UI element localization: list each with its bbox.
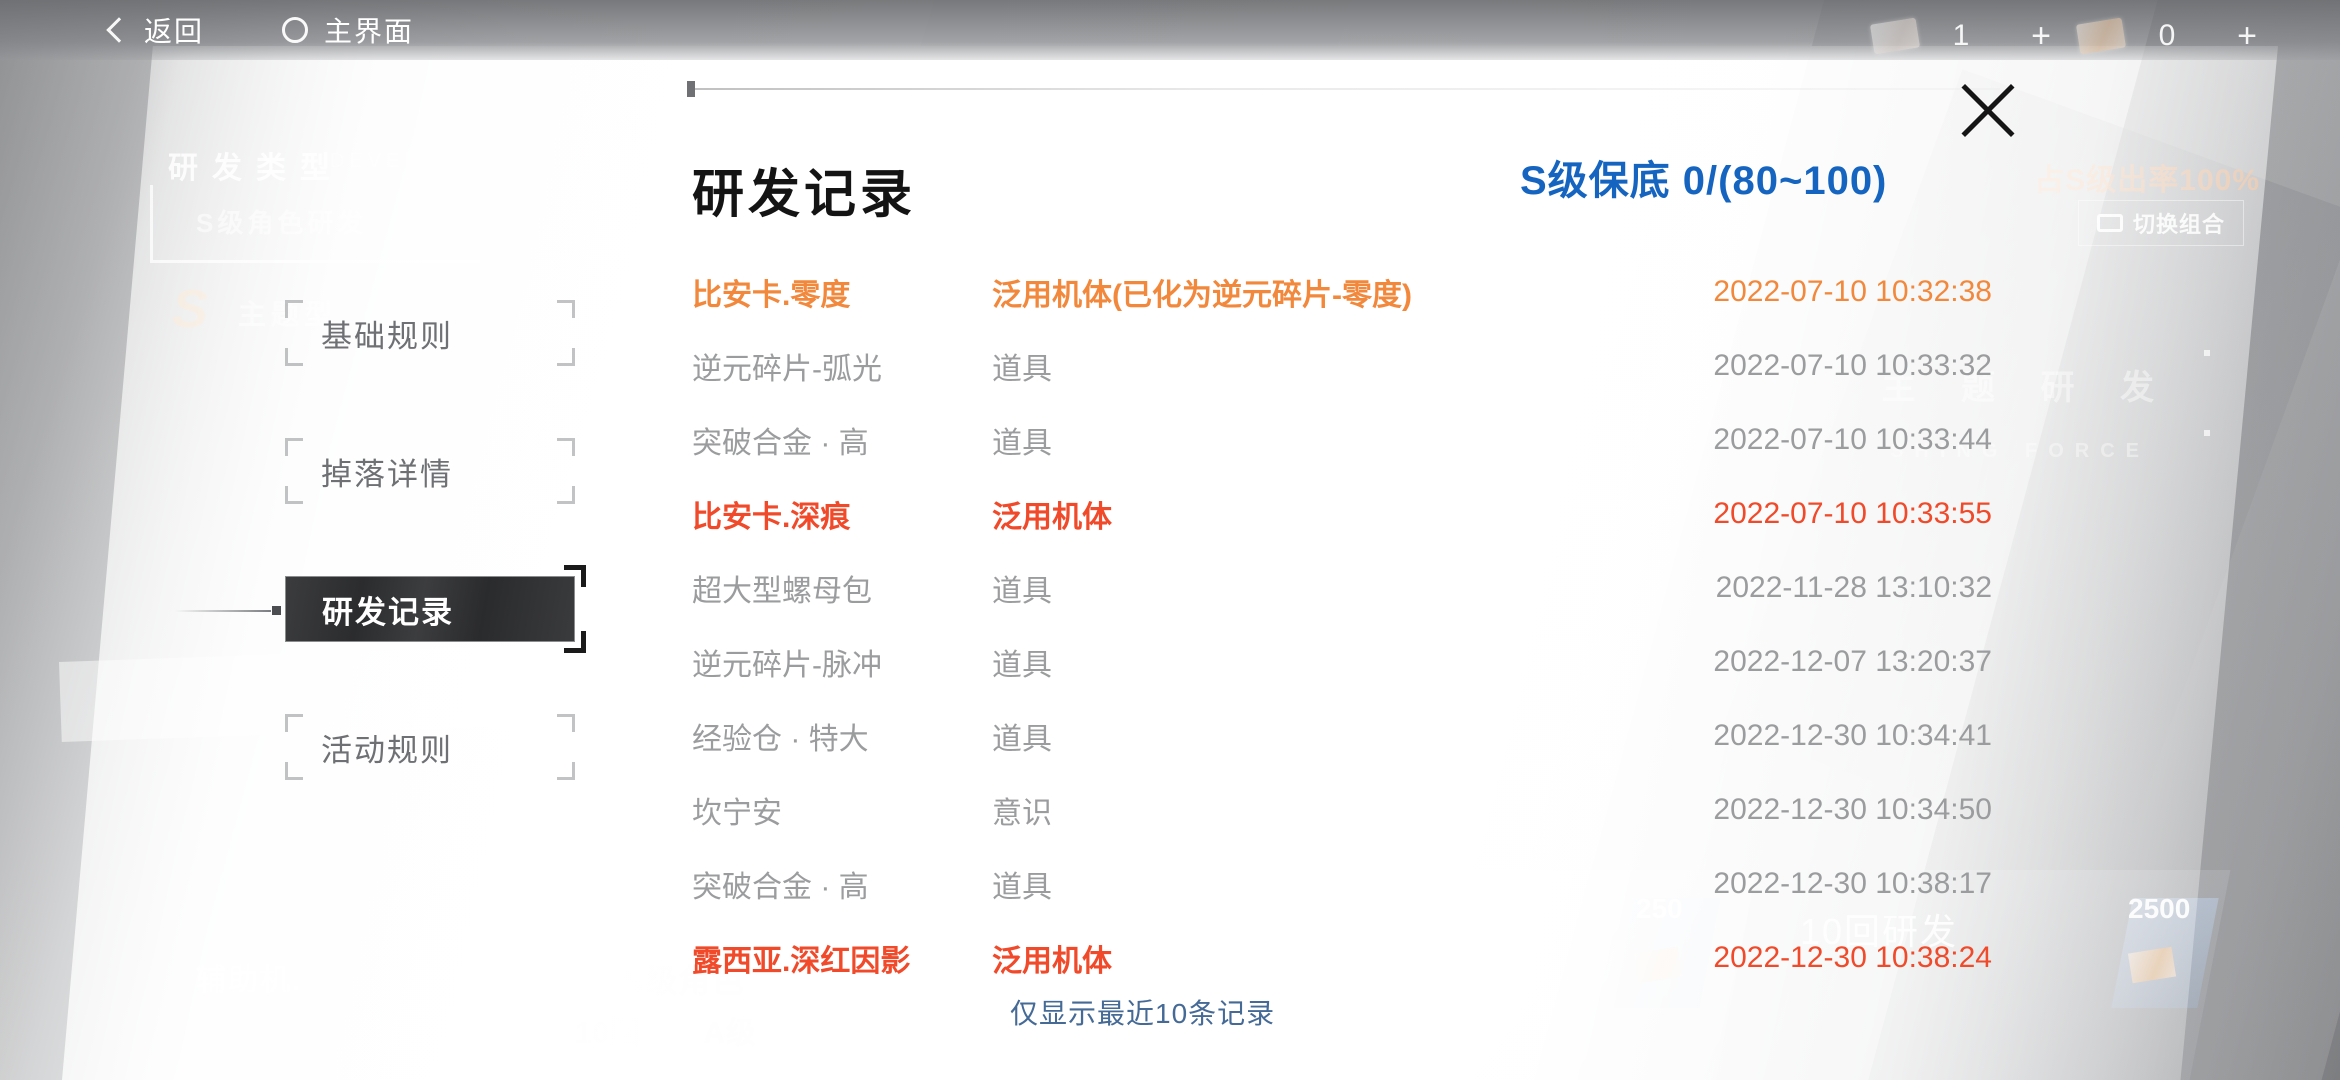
record-name: 突破合金 · 高 [692,862,992,906]
sidebar-item-label: 掉落详情 [321,449,453,494]
record-type: 道具 [992,566,1572,610]
bracket-top-left-icon [285,300,303,318]
table-row: 逆元碎片-脉冲道具2022-12-07 13:20:37 [692,625,1992,699]
table-row: 坎宁安意识2022-12-30 10:34:50 [692,773,1992,847]
coin-icon [2076,18,2126,55]
bracket-bottom-right-icon [564,631,586,653]
table-row: 比安卡.深痕泛用机体2022-07-10 10:33:55 [692,477,1992,551]
record-name: 露西亚.深红因影 [692,936,992,980]
record-type: 泛用机体(已化为逆元碎片-零度) [992,270,1572,314]
bracket-bottom-left-icon [285,486,303,504]
ticket-icon [1870,18,1920,55]
record-type: 道具 [992,714,1572,758]
record-time: 2022-12-30 10:38:24 [1572,941,1992,975]
record-name: 突破合金 · 高 [692,418,992,462]
record-type: 意识 [992,788,1572,832]
bracket-bottom-right-icon [557,762,575,780]
record-name: 比安卡.零度 [692,270,992,314]
record-time: 2022-07-10 10:33:44 [1572,423,1992,457]
records-footnote: 仅显示最近10条记录 [1010,992,1275,1032]
sidebar-item-basic-rules[interactable]: 基础规则 [285,300,575,366]
record-type: 泛用机体 [992,936,1572,980]
circle-icon [282,17,308,43]
sidebar-item-label: 活动规则 [321,725,453,770]
coin-add-button[interactable]: + [2210,17,2284,56]
home-button[interactable]: 主界面 [282,10,414,50]
record-type: 道具 [992,640,1572,684]
currency-ticket: 1 + [1872,17,2078,56]
record-type: 道具 [992,344,1572,388]
record-time: 2022-07-10 10:33:32 [1572,349,1992,383]
bracket-top-right-icon [557,714,575,732]
bracket-top-right-icon [557,300,575,318]
page-title: 研发记录 [692,152,916,227]
record-name: 比安卡.深痕 [692,492,992,536]
chevron-left-icon [106,17,131,42]
back-button[interactable]: 返回 [110,10,204,50]
bracket-top-left-icon [285,438,303,456]
currency-coin: 0 + [2078,17,2284,56]
table-row: 露西亚.深红因影泛用机体2022-12-30 10:38:24 [692,921,1992,995]
bracket-bottom-right-icon [557,486,575,504]
record-time: 2022-07-10 10:32:38 [1572,275,1992,309]
bracket-top-right-icon [564,565,586,587]
bracket-bottom-right-icon [557,348,575,366]
bracket-top-left-icon [285,714,303,732]
records-table: 比安卡.零度泛用机体(已化为逆元碎片-零度)2022-07-10 10:32:3… [692,255,1992,995]
table-row: 超大型螺母包道具2022-11-28 13:10:32 [692,551,1992,625]
bracket-bottom-left-icon [285,348,303,366]
active-tab-marker [175,610,271,612]
sidebar-item-label: 研发记录 [322,587,454,632]
back-button-label: 返回 [144,10,204,50]
sidebar-item-label: 基础规则 [321,311,453,356]
record-name: 超大型螺母包 [692,566,992,610]
table-row: 经验仓 · 特大道具2022-12-30 10:34:41 [692,699,1992,773]
table-row: 比安卡.零度泛用机体(已化为逆元碎片-零度)2022-07-10 10:32:3… [692,255,1992,329]
currency-counters: 1 + 0 + [1872,12,2284,60]
close-icon[interactable] [1955,78,2019,142]
record-name: 逆元碎片-弧光 [692,344,992,388]
record-time: 2022-07-10 10:33:55 [1572,497,1992,531]
table-row: 突破合金 · 高道具2022-07-10 10:33:44 [692,403,1992,477]
modal-divider-marker [687,81,695,97]
coin-count: 0 [2124,19,2210,53]
record-type: 道具 [992,418,1572,462]
record-name: 经验仓 · 特大 [692,714,992,758]
s-rank-pity-counter: S级保底 0/(80~100) [1520,148,1887,206]
record-time: 2022-12-30 10:34:41 [1572,719,1992,753]
record-time: 2022-11-28 13:10:32 [1572,571,1992,605]
rules-sidebar: 基础规则 掉落详情 研发记录 活动规则 [285,300,575,852]
record-time: 2022-12-07 13:20:37 [1572,645,1992,679]
record-type: 泛用机体 [992,492,1572,536]
record-time: 2022-12-30 10:34:50 [1572,793,1992,827]
ticket-add-button[interactable]: + [2004,17,2078,56]
table-row: 突破合金 · 高道具2022-12-30 10:38:17 [692,847,1992,921]
bracket-top-right-icon [557,438,575,456]
record-type: 道具 [992,862,1572,906]
sidebar-item-event-rules[interactable]: 活动规则 [285,714,575,780]
modal-top-divider [690,88,2000,90]
record-time: 2022-12-30 10:38:17 [1572,867,1992,901]
sidebar-item-develop-records[interactable]: 研发记录 [285,576,575,642]
sidebar-item-drop-details[interactable]: 掉落详情 [285,438,575,504]
record-name: 坎宁安 [692,788,992,832]
bracket-bottom-left-icon [285,762,303,780]
table-row: 逆元碎片-弧光道具2022-07-10 10:33:32 [692,329,1992,403]
home-button-label: 主界面 [324,10,414,50]
record-name: 逆元碎片-脉冲 [692,640,992,684]
ticket-count: 1 [1918,19,2004,53]
